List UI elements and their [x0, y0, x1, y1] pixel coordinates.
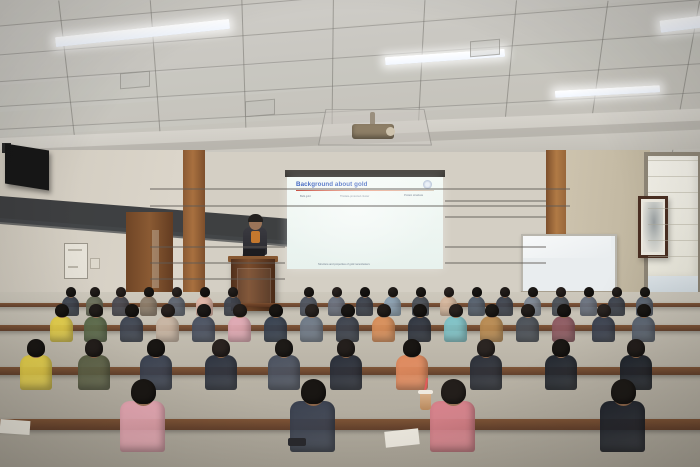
audience-hair [131, 379, 157, 405]
audience-hair [627, 339, 645, 357]
shade-slat [648, 160, 698, 161]
audience-member [264, 305, 287, 341]
audience-hair [55, 304, 68, 317]
audience-hair [228, 287, 238, 297]
audience-hair [557, 304, 570, 317]
audience-body [120, 316, 143, 343]
audience-hair [640, 287, 650, 297]
audience-body [20, 355, 52, 391]
audience-member [430, 380, 475, 449]
audience-member [156, 305, 179, 341]
audience-hair [85, 339, 103, 357]
drink-cup-lid [418, 390, 433, 394]
audience-hair [212, 339, 230, 357]
audience-hair [521, 304, 534, 317]
audience-member [396, 340, 428, 388]
audience-body [120, 401, 165, 452]
audience-hair [147, 339, 165, 357]
audience-member [444, 305, 467, 341]
audience-body [372, 316, 395, 343]
wall-groove [150, 262, 285, 264]
audience-body [444, 316, 467, 343]
audience-member [632, 305, 655, 341]
audience-hair [337, 339, 355, 357]
audience-hair [66, 287, 76, 297]
audience-hair [197, 304, 210, 317]
audience-hair [27, 339, 45, 357]
audience-body [205, 355, 237, 391]
wall-groove [445, 246, 546, 248]
audience-body [300, 316, 323, 343]
audience-member [336, 305, 359, 341]
audience-body [50, 316, 73, 343]
shade-slat [648, 240, 698, 241]
audience-hair [449, 304, 462, 317]
audience-hair [597, 304, 610, 317]
audience-hair [472, 287, 482, 297]
audience-hair [416, 287, 426, 297]
audience-member [228, 305, 251, 341]
audience-hair [125, 304, 138, 317]
audience-member [20, 340, 52, 388]
audience-hair [269, 304, 282, 317]
audience [0, 0, 700, 467]
audience-member [545, 340, 577, 388]
drink-cup-icon [420, 393, 431, 410]
audience-hair [341, 304, 354, 317]
shade-slat [648, 176, 698, 177]
audience-body [592, 316, 615, 343]
audience-member [120, 305, 143, 341]
audience-hair [413, 304, 426, 317]
audience-hair [441, 379, 467, 405]
audience-hair [528, 287, 538, 297]
audience-hair [360, 287, 370, 297]
audience-member [192, 305, 215, 341]
audience-hair [377, 304, 390, 317]
audience-hair [275, 339, 293, 357]
audience-hair [200, 287, 210, 297]
audience-body [600, 401, 645, 452]
audience-hair [301, 379, 327, 405]
shade-slat [648, 224, 698, 225]
audience-hair [304, 287, 314, 297]
audience-body [228, 316, 251, 343]
audience-body [516, 316, 539, 343]
audience-hair [116, 287, 126, 297]
audience-hair [144, 287, 154, 297]
audience-hair [552, 339, 570, 357]
audience-hair [500, 287, 510, 297]
audience-member [84, 305, 107, 341]
audience-hair [332, 287, 342, 297]
audience-member [480, 305, 503, 341]
wall-groove [150, 188, 570, 190]
audience-hair [388, 287, 398, 297]
audience-hair [556, 287, 566, 297]
audience-hair [485, 304, 498, 317]
handout-paper-left [0, 419, 30, 435]
audience-hair [611, 379, 637, 405]
audience-member [78, 340, 110, 388]
audience-hair [90, 287, 100, 297]
shade-slat [648, 208, 698, 209]
audience-member [552, 305, 575, 341]
lecture-hall-photo: Background about gold Bulk gold Thiolate… [0, 0, 700, 467]
audience-hair [477, 339, 495, 357]
audience-member [50, 305, 73, 341]
wall-groove [445, 200, 546, 202]
audience-body [430, 401, 475, 452]
shade-slat [648, 192, 698, 193]
wall-groove [445, 216, 546, 218]
audience-member [408, 305, 431, 341]
audience-member [600, 380, 645, 449]
mobile-phone-icon[interactable] [288, 438, 306, 446]
audience-hair [584, 287, 594, 297]
desk [0, 419, 700, 430]
audience-hair [305, 304, 318, 317]
audience-hair [444, 287, 454, 297]
audience-hair [637, 304, 650, 317]
audience-member [372, 305, 395, 341]
audience-hair [89, 304, 102, 317]
wall-groove [150, 278, 285, 280]
audience-hair [172, 287, 182, 297]
audience-hair [233, 304, 246, 317]
audience-body [156, 316, 179, 343]
audience-hair [612, 287, 622, 297]
audience-member [592, 305, 615, 341]
wall-groove [445, 262, 546, 264]
audience-member [205, 340, 237, 388]
audience-hair [403, 339, 421, 357]
audience-body [396, 355, 428, 391]
audience-hair [161, 304, 174, 317]
audience-member [516, 305, 539, 341]
wall-groove [150, 246, 285, 248]
audience-member [120, 380, 165, 449]
wall-groove [150, 205, 570, 207]
audience-body [78, 355, 110, 391]
audience-body [545, 355, 577, 391]
audience-body [192, 316, 215, 343]
audience-member [300, 305, 323, 341]
shade-slat [648, 256, 698, 257]
